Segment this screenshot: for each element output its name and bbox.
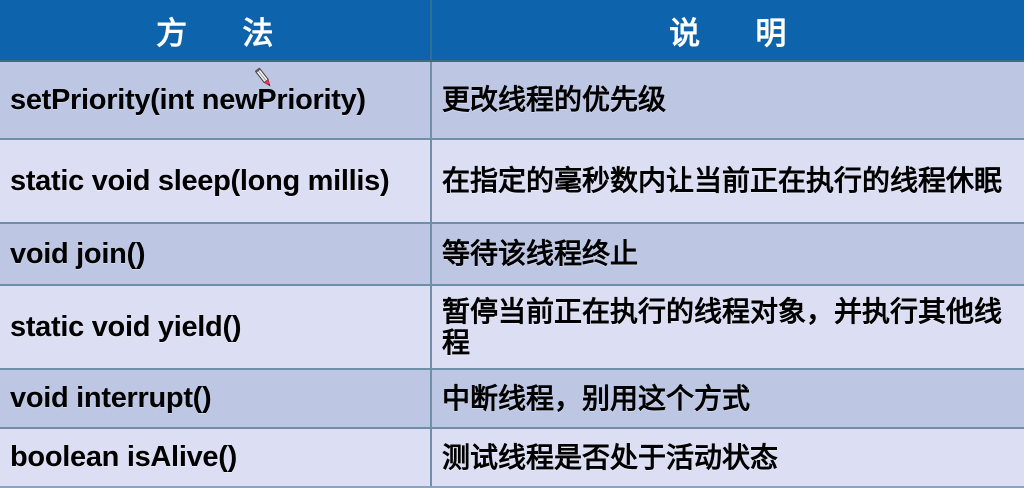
cell-description: 测试线程是否处于活动状态 xyxy=(431,428,1024,487)
cell-description: 等待该线程终止 xyxy=(431,223,1024,285)
table-header-row: 方 法 说 明 xyxy=(0,0,1024,61)
cell-method: void interrupt() xyxy=(0,369,431,428)
cell-description: 暂停当前正在执行的线程对象，并执行其他线程 xyxy=(431,285,1024,369)
column-header-description: 说 明 xyxy=(431,0,1024,61)
table-row: static void sleep(long millis) 在指定的毫秒数内让… xyxy=(0,139,1024,223)
thread-method-table: 方 法 说 明 setPriority(int newPriority) 更改线… xyxy=(0,0,1024,488)
table-body: setPriority(int newPriority) 更改线程的优先级 st… xyxy=(0,61,1024,487)
column-header-method: 方 法 xyxy=(0,0,431,61)
table-row: boolean isAlive() 测试线程是否处于活动状态 xyxy=(0,428,1024,487)
column-header-description-label: 说 明 xyxy=(669,8,787,53)
slide-canvas: 方 法 说 明 setPriority(int newPriority) 更改线… xyxy=(0,0,1034,482)
cell-method: static void yield() xyxy=(0,285,431,369)
table-row: setPriority(int newPriority) 更改线程的优先级 xyxy=(0,61,1024,139)
table-row: static void yield() 暂停当前正在执行的线程对象，并执行其他线… xyxy=(0,285,1024,369)
cell-method: static void sleep(long millis) xyxy=(0,139,431,223)
table-row: void interrupt() 中断线程，别用这个方式 xyxy=(0,369,1024,428)
cell-description: 更改线程的优先级 xyxy=(431,61,1024,139)
table-header: 方 法 说 明 xyxy=(0,0,1024,61)
cell-description: 中断线程，别用这个方式 xyxy=(431,369,1024,428)
cell-method: void join() xyxy=(0,223,431,285)
table-row: void join() 等待该线程终止 xyxy=(0,223,1024,285)
cell-method: boolean isAlive() xyxy=(0,428,431,487)
column-header-method-label: 方 法 xyxy=(156,8,274,53)
cell-description: 在指定的毫秒数内让当前正在执行的线程休眠 xyxy=(431,139,1024,223)
cell-method: setPriority(int newPriority) xyxy=(0,61,431,139)
